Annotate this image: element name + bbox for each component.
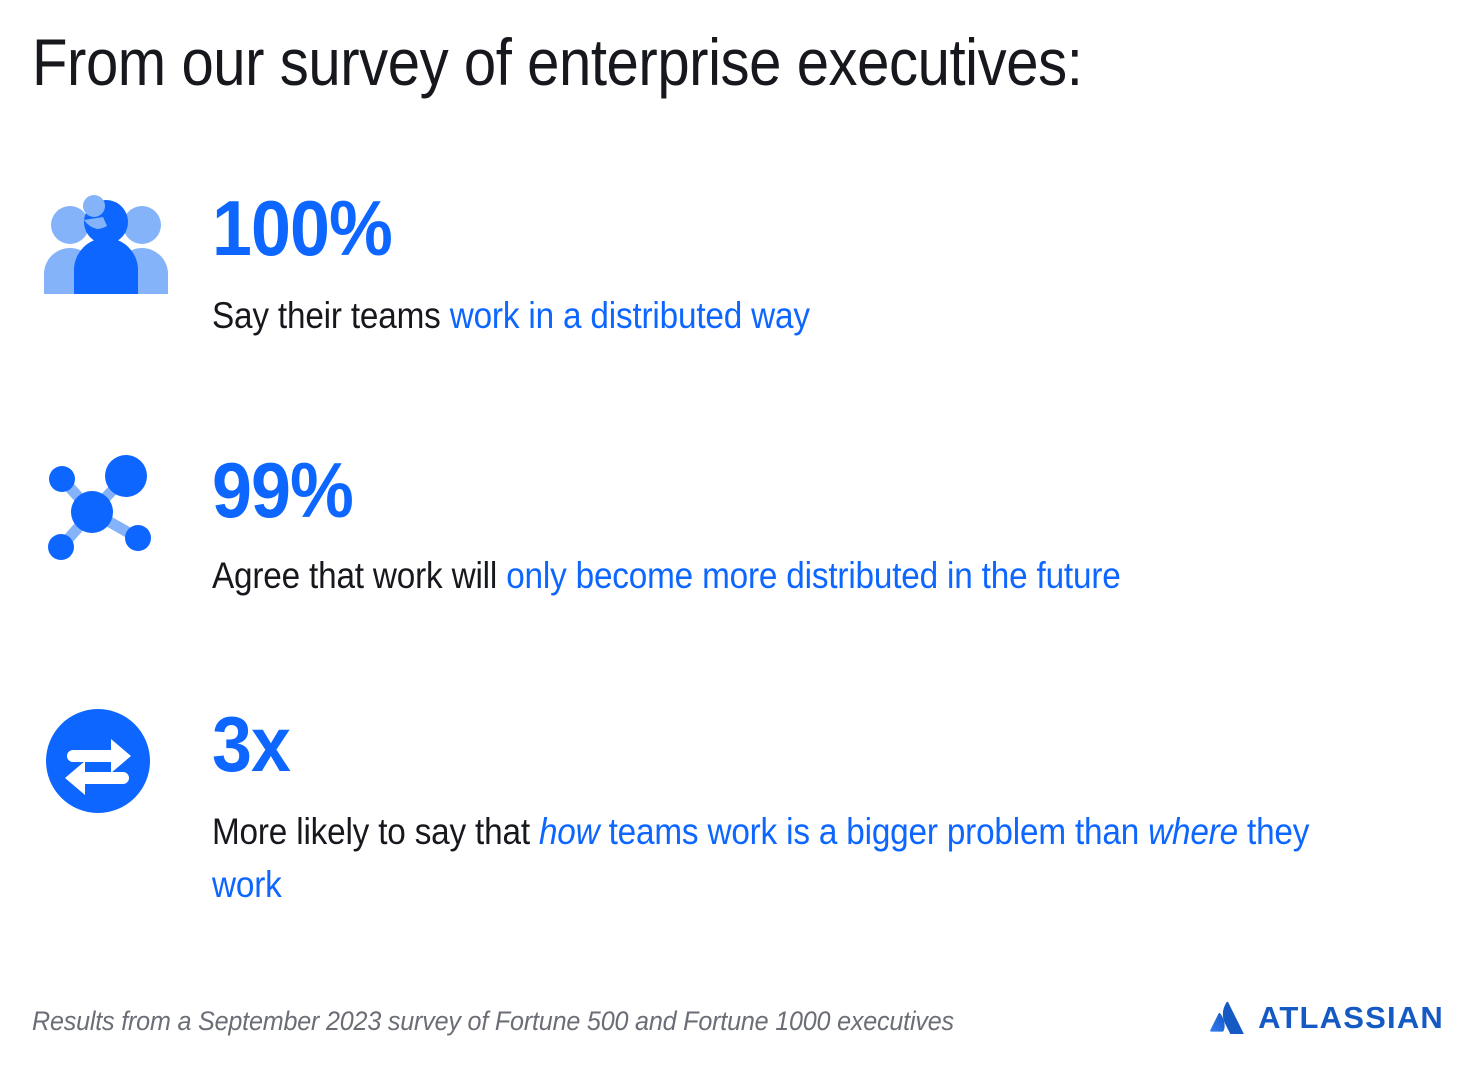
infographic-page: From our survey of enterprise executives… — [0, 0, 1480, 1090]
stat-caption: Agree that work will only become more di… — [212, 550, 1317, 603]
caption-highlight-mid: teams work is a bigger problem than — [600, 811, 1149, 852]
caption-lead: Agree that work will — [212, 555, 506, 596]
caption-emphasis-how: how — [539, 811, 600, 852]
caption-highlight: only become more distributed in the futu… — [506, 555, 1120, 596]
people-group-icon — [42, 190, 170, 294]
caption-lead: Say their teams — [212, 295, 450, 336]
source-note: Results from a September 2023 survey of … — [32, 1004, 954, 1039]
network-nodes-icon — [42, 452, 170, 556]
swap-arrows-icon — [42, 706, 170, 810]
stat-number: 100% — [212, 190, 1342, 266]
atlassian-a-mark-icon — [1210, 1000, 1244, 1034]
stat-body-1: 100% Say their teams work in a distribut… — [212, 190, 1440, 343]
atlassian-logo: ATLASSIAN — [1210, 1000, 1444, 1034]
footer: Results from a September 2023 survey of … — [32, 1000, 1448, 1046]
caption-emphasis-where: where — [1148, 811, 1238, 852]
stat-caption: Say their teams work in a distributed wa… — [212, 290, 1317, 343]
stat-caption: More likely to say that how teams work i… — [212, 806, 1317, 911]
atlassian-wordmark: ATLASSIAN — [1258, 1002, 1444, 1033]
stat-number: 3x — [212, 706, 1342, 782]
caption-highlight: work in a distributed way — [450, 295, 810, 336]
stat-body-3: 3x More likely to say that how teams wor… — [212, 706, 1440, 912]
stat-body-2: 99% Agree that work will only become mor… — [212, 452, 1440, 603]
caption-lead: More likely to say that — [212, 811, 539, 852]
page-title: From our survey of enterprise executives… — [32, 26, 1082, 99]
stat-number: 99% — [212, 452, 1342, 528]
